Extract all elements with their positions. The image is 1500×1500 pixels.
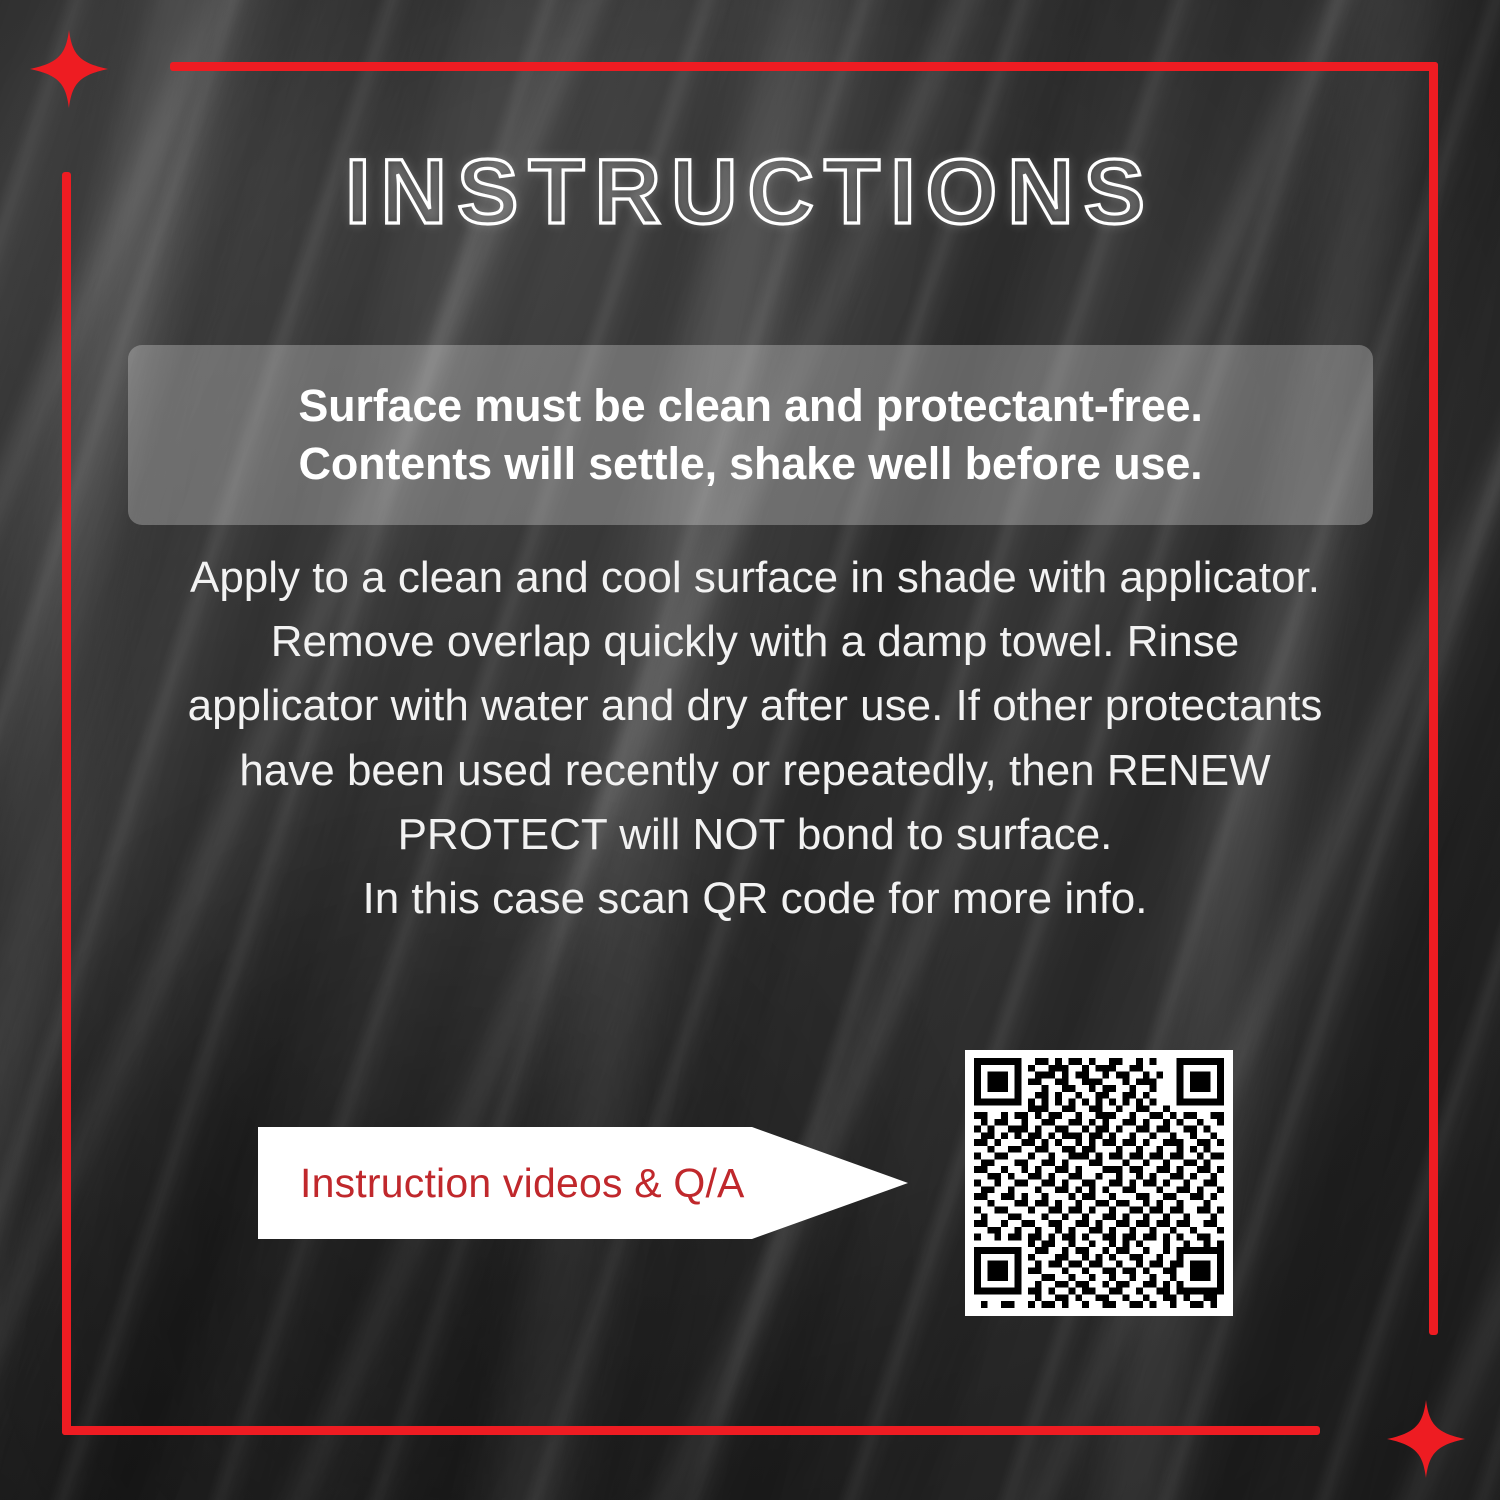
frame-line-left (62, 172, 71, 1435)
frame-line-top (170, 62, 1438, 71)
highlight-line-1: Surface must be clean and protectant-fre… (298, 377, 1202, 436)
sparkle-star-icon (1385, 1400, 1467, 1478)
instructions-paragraph-1: Apply to a clean and cool surface in sha… (170, 546, 1340, 867)
qr-code[interactable] (965, 1050, 1233, 1316)
instructions-paragraph-2: In this case scan QR code for more info. (170, 867, 1340, 931)
highlight-panel: Surface must be clean and protectant-fre… (128, 345, 1373, 525)
frame-line-bottom (62, 1426, 1320, 1435)
page-title: INSTRUCTIONS (0, 146, 1500, 238)
highlight-line-2: Contents will settle, shake well before … (299, 435, 1203, 494)
frame-line-right (1429, 62, 1438, 1335)
instructions-card: INSTRUCTIONS Surface must be clean and p… (0, 0, 1500, 1500)
arrow-banner-label: Instruction videos & Q/A (258, 1160, 745, 1207)
sparkle-star-icon (28, 30, 110, 108)
instructions-body: Apply to a clean and cool surface in sha… (170, 546, 1340, 931)
